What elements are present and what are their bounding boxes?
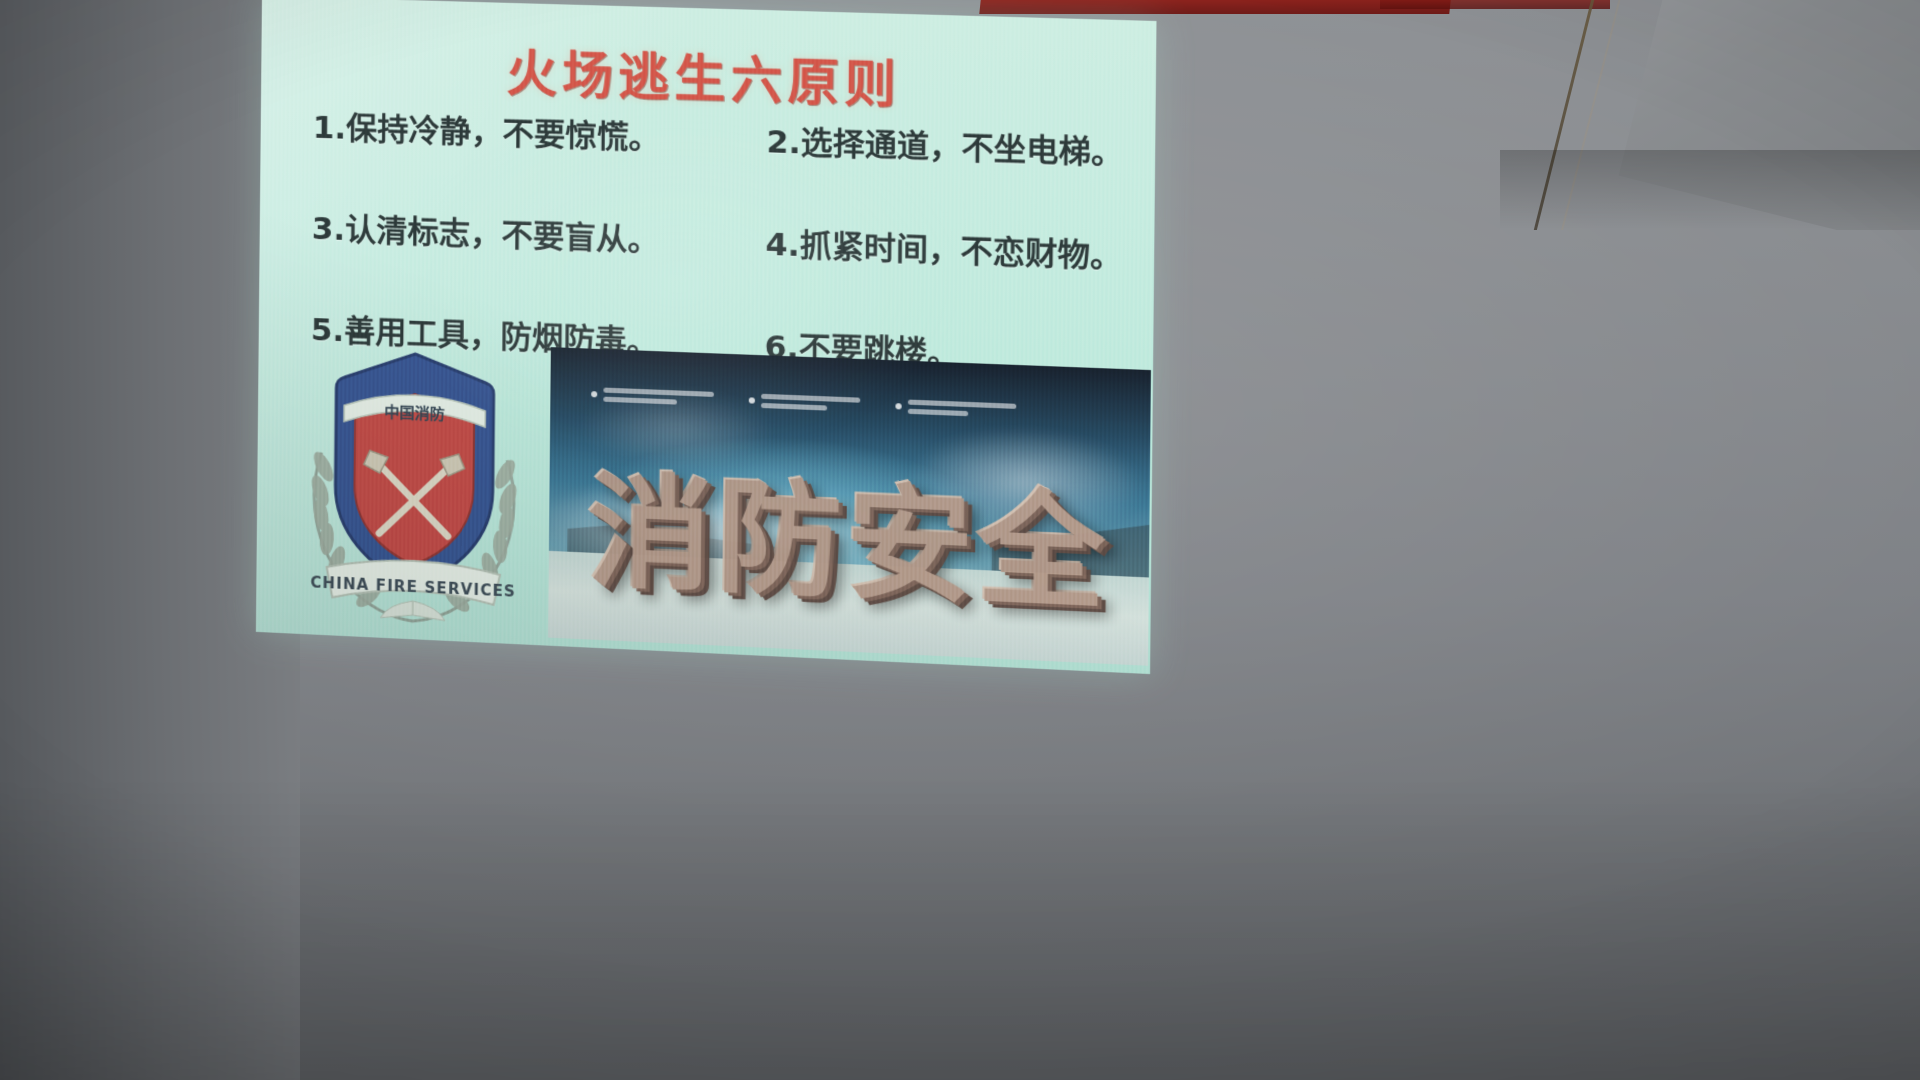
photograph-of-room-with-projection: 火场逃生六原则 1.保持冷静，不要惊慌。 2.选择通道，不坐电梯。 3.认清标志… bbox=[0, 0, 1920, 1080]
photo-vignette bbox=[0, 0, 1920, 1080]
